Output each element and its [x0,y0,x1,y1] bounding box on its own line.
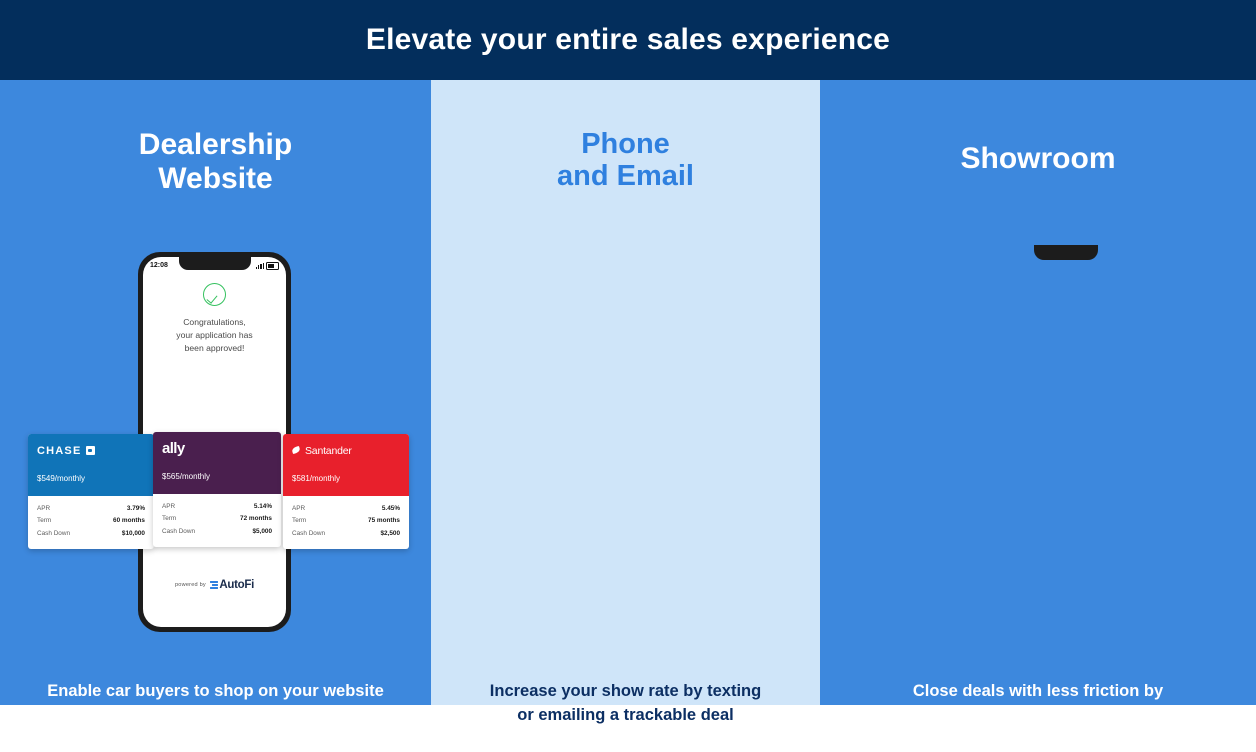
detail-key: Cash Down [292,528,325,540]
detail-row: APR 5.14% [162,501,272,513]
detail-key: Term [292,515,306,527]
price-amount: $565 [162,472,180,481]
detail-value: $2,500 [380,528,400,540]
status-icons [256,262,279,270]
detail-row: APR 3.79% [37,503,145,515]
detail-key: Cash Down [162,526,195,538]
detail-row: Term 72 months [162,513,272,525]
caption-line-2: and receive real-time lender offers [0,704,431,728]
lender-name: Santander [305,445,352,457]
chase-logo: CHASE [37,442,145,459]
battery-icon [266,262,279,270]
detail-key: APR [162,501,175,513]
status-time: 12:08 [150,262,168,269]
lender-price: $581/monthly [292,466,400,486]
powered-by-autofi: powered by AutoFi [143,579,286,591]
detail-value: 60 months [113,515,145,527]
page-title: Elevate your entire sales experience [366,23,890,57]
detail-row: Term 60 months [37,515,145,527]
caption-line-1: Close deals with less friction by [820,680,1256,704]
detail-key: APR [292,503,305,515]
lender-card-santander[interactable]: Santander $581/monthly APR 5.45% Term 75… [283,434,409,549]
column-caption-dealership: Enable car buyers to shop on your websit… [0,680,431,728]
detail-key: APR [37,503,50,515]
lender-price: $565/monthly [162,464,272,484]
detail-row: Cash Down $10,000 [37,528,145,540]
heading-line-1: Showroom [820,142,1256,176]
caption-line-1: Increase your show rate by texting [431,680,820,704]
column-heading-phone-email: Phone and Email [431,128,820,193]
lender-card-header: Santander $581/monthly [283,434,409,496]
chase-octagon-icon [86,446,95,455]
caption-line-2: empowering your team to [820,704,1256,728]
heading-line-1: Phone [431,128,820,160]
powered-by-label: powered by [175,582,206,588]
approval-line-1: Congratulations, [143,316,286,329]
caption-line-1: Enable car buyers to shop on your websit… [0,680,431,704]
lender-card-ally[interactable]: ally $565/monthly APR 5.14% Term 72 mont… [153,432,281,547]
detail-value: 3.79% [127,503,145,515]
price-amount: $581 [292,474,310,483]
lender-card-header: CHASE $549/monthly [28,434,154,496]
santander-flame-icon [292,446,301,455]
detail-row: Cash Down $5,000 [162,526,272,538]
detail-row: APR 5.45% [292,503,400,515]
slide: Elevate your entire sales experience Dea… [0,0,1256,705]
column-showroom: Showroom 👥 🚗 🗋 [820,80,1256,705]
autofi-logo-icon: AutoFi [210,579,254,591]
lender-card-details: APR 5.14% Term 72 months Cash Down $5,00… [153,494,281,547]
price-amount: $549 [37,474,55,483]
column-caption-phone-email: Increase your show rate by texting or em… [431,680,820,728]
price-period: /monthly [55,474,85,483]
three-column-layout: Dealership Website 12:08 [0,80,1256,705]
signal-bars-icon [256,263,264,269]
approval-message: Congratulations, your application has be… [143,283,286,355]
detail-key: Term [162,513,176,525]
approval-text: Congratulations, your application has be… [143,316,286,355]
detail-value: 72 months [240,513,272,525]
caption-line-2: or emailing a trackable deal [431,704,820,728]
slide-header: Elevate your entire sales experience [0,0,1256,80]
price-period: /monthly [310,474,340,483]
phone-notch [1034,245,1098,260]
heading-line-2: Website [0,162,431,196]
lender-name: ally [162,440,185,457]
check-circle-icon [203,283,226,306]
detail-row: Term 75 months [292,515,400,527]
detail-row: Cash Down $2,500 [292,528,400,540]
lender-name: CHASE [37,445,82,457]
lender-card-details: APR 5.45% Term 75 months Cash Down $2,50… [283,496,409,549]
ally-logo: ally [162,440,272,457]
approval-line-2: your application has [143,329,286,342]
lender-card-details: APR 3.79% Term 60 months Cash Down $10,0… [28,496,154,549]
column-caption-showroom: Close deals with less friction by empowe… [820,680,1256,752]
column-dealership-website: Dealership Website 12:08 [0,80,431,705]
detail-value: $5,000 [252,526,272,538]
detail-value: 5.45% [382,503,400,515]
phone-status-bar: 12:08 [143,259,286,272]
autofi-wordmark: AutoFi [219,579,254,591]
column-heading-dealership: Dealership Website [0,128,431,195]
approval-line-3: been approved! [143,342,286,355]
column-heading-showroom: Showroom [820,142,1256,176]
lender-card-header: ally $565/monthly [153,432,281,494]
lender-card-chase[interactable]: CHASE $549/monthly APR 3.79% Term 60 mon… [28,434,154,549]
column-phone-and-email: Phone and Email Joe Brown Quote FINANCE [431,80,820,705]
detail-key: Term [37,515,51,527]
detail-value: 75 months [368,515,400,527]
caption-line-3: collaboratively work deals [820,728,1256,752]
detail-value: 5.14% [254,501,272,513]
price-period: /monthly [180,472,210,481]
santander-logo: Santander [292,442,400,459]
heading-line-2: and Email [431,160,820,192]
autofi-bars-icon [210,581,218,590]
detail-value: $10,000 [122,528,145,540]
detail-key: Cash Down [37,528,70,540]
heading-line-1: Dealership [0,128,431,162]
lender-price: $549/monthly [37,466,145,486]
